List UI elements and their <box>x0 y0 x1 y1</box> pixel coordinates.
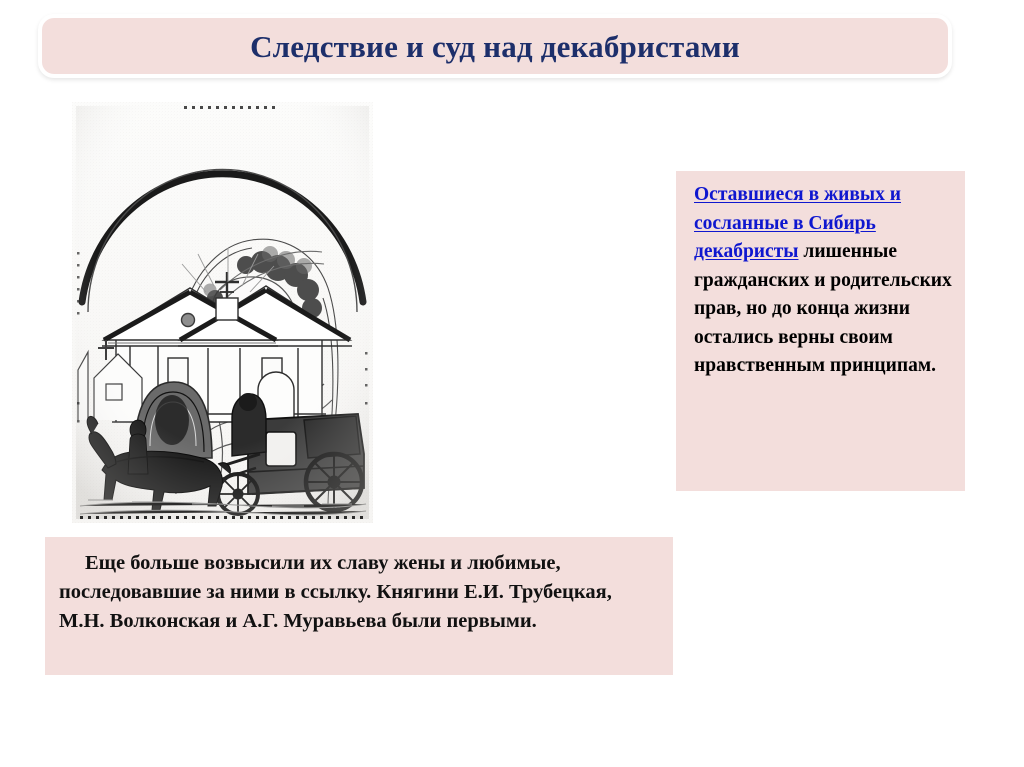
bottom-note-box: Еще больше возвысили их славу жены и люб… <box>45 537 673 675</box>
slide-title-banner: Следствие и суд над декабристами <box>38 14 952 78</box>
page-title: Следствие и суд над декабристами <box>250 31 740 62</box>
sidebar-note-paragraph: Оставшиеся в живых и сосланные в Сибирь … <box>694 181 953 381</box>
illustration-lithograph <box>72 102 373 523</box>
bottom-note-text: Еще больше возвысили их славу жены и люб… <box>59 549 659 636</box>
lithograph-drawing <box>72 102 373 523</box>
sidebar-note-box: Оставшиеся в живых и сосланные в Сибирь … <box>676 171 965 491</box>
